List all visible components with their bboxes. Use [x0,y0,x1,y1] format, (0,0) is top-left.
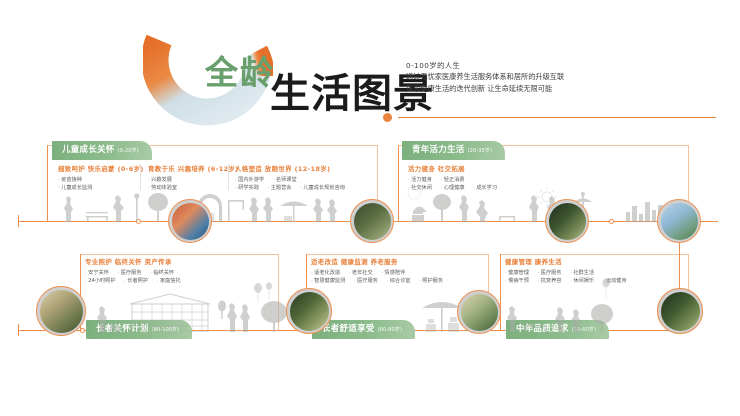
section-frame-top-4 [306,254,488,255]
timeline-start-tick [18,215,19,227]
teen-study-photo[interactable] [350,199,394,243]
detail-item: 儿童成长规划咨询 [300,185,345,191]
badge-label: 长者舒适享受 [322,323,375,333]
detail-row: 兴趣发展 [148,176,239,184]
badge-age: (60-80岁) [378,327,402,333]
detail-item: 24小时照护 [85,278,116,284]
detail-item: 老年社交 [349,270,373,276]
photo-image [549,203,586,240]
page-subtitle: 0-100岁的人生 通过无忧家医康养生活服务体系和居所的升级互联 探索健康生活的… [406,60,564,94]
detail-item: 成长学习 [473,185,497,191]
detail-item: 临终关怀 [150,270,174,276]
detail-item: 研学实践 [235,185,259,191]
youth-sport-photo[interactable] [545,199,589,243]
detail-item: 家庭信托 [157,278,181,284]
detail-row: 活力健身 轻正消费 [408,176,504,184]
infographic-canvas: 全龄 生活图景 0-100岁的人生 通过无忧家医康养生活服务体系和居所的升级互联… [0,0,740,416]
detail-row: 智慧健康监测 医疗服务 综合诊室 照护服务 [311,277,450,285]
elder-walk-photo[interactable] [657,288,703,334]
photo-image [354,203,391,240]
silhouette-playground-scene [196,194,346,222]
header-rule-dot [383,113,392,122]
rail-node-dot [609,219,614,224]
senior-garden-photo[interactable] [36,286,86,336]
detail-item: 主题营会 [268,185,292,191]
detail-row: 健康管理 医疗服务 社群生活 [505,269,634,277]
detail-item: 医疗服务 [538,270,562,276]
elder-care-photo[interactable] [286,288,332,334]
detail-item: 长者照护 [124,278,148,284]
detail-block-child-2: 人格塑造 放眼世界 (12-18岁) 国内外游学 名师课堂 研学实践 主题营会 … [235,164,352,192]
detail-title: 健康管理 康养生活 [505,257,634,266]
badge-age: (20-35岁) [468,148,492,154]
detail-separator [228,164,229,190]
detail-item: 照护服务 [419,278,443,284]
photo-image [661,292,700,331]
silhouette-sun-icon [405,184,423,202]
page-title-green: 全龄 [205,46,275,94]
subtitle-line-1: 0-100岁的人生 [406,60,564,71]
subtitle-line-3: 探索健康生活的迭代创新 让生命延续无限可能 [406,83,564,94]
silhouette-park-scene [58,190,178,222]
detail-row: 国内外游学 名师课堂 [235,176,352,184]
detail-title: 人格塑造 放眼世界 (12-18岁) [235,164,352,173]
detail-item: 综合诊室 [387,278,411,284]
detail-separator [140,164,141,190]
detail-item: 国内外游学 [235,177,264,183]
badge-stage-child: 儿童成长关怀(0-20岁) [52,141,152,160]
detail-item: 抗衰养容 [538,278,562,284]
detail-item: 活力健身 [408,177,432,183]
badge-stage-youth: 青年活力生活(20-35岁) [402,141,505,160]
detail-block-elder-care: 专业照护 临终关怀 资产传承 安宁关怀 医疗服务 临终关怀 24小时照护 长者照… [85,257,188,285]
section-frame-left-2 [398,145,399,221]
detail-item: 轻正消费 [441,177,465,183]
section-frame-top-3 [80,254,278,255]
detail-title: 专业照护 临终关怀 资产传承 [85,257,188,266]
silhouette-balloon [252,282,276,304]
badge-label: 青年活力生活 [412,144,465,154]
detail-item: 情感陪伴 [381,270,405,276]
detail-row: 安宁关怀 医疗服务 临终关怀 [85,269,188,277]
section-frame-left-1 [47,145,48,221]
detail-row: 24小时照护 长者照护 家庭信托 [85,277,188,285]
detail-item: 安宁关怀 [85,270,109,276]
section-frame-top-5 [500,254,688,255]
detail-item: 智慧健康监测 [311,278,345,284]
detail-item: 兴趣发展 [148,177,172,183]
timeline-end-tick [18,324,19,336]
detail-item: 疫苗接种 [58,177,82,183]
detail-row: 疫苗接种 [58,176,144,184]
detail-block-senior: 适老改造 健康监测 养老服务 适老化改造 老年社交 情感陪伴 智慧健康监测 医疗… [311,257,450,285]
photo-image [661,203,698,240]
detail-block-child-1: 育教于乐 兴趣培养 (6-12岁) 兴趣发展 劳动体验室 [148,164,239,192]
silhouette-balloon [600,278,622,300]
detail-block-child-0: 细致呵护 快乐启蒙 (0-6岁) 疫苗接种 儿童成长监测 [58,164,144,192]
detail-item: 医疗服务 [354,278,378,284]
detail-item: 适老化改造 [311,270,340,276]
detail-item: 休闲娱乐 [570,278,594,284]
detail-item: 健康管理 [505,270,529,276]
photo-image [40,290,83,333]
detail-title: 细致呵护 快乐启蒙 (0-6岁) [58,164,144,173]
child-play-photo[interactable] [168,199,212,243]
header-rule [398,117,716,118]
detail-item: 慢病干预 [505,278,529,284]
photo-image [172,203,209,240]
midlife-couple-photo[interactable] [657,199,701,243]
detail-title: 适老改造 健康监测 养老服务 [311,257,450,266]
subtitle-line-2: 通过无忧家医康养生活服务体系和居所的升级互联 [406,71,564,82]
badge-age: (0-20岁) [118,148,139,154]
detail-row: 适老化改造 老年社交 情感陪伴 [311,269,450,277]
silhouette-leisure-scene [418,292,618,332]
detail-item: 医疗服务 [118,270,142,276]
photo-image [290,292,329,331]
detail-item: 社群生活 [570,270,594,276]
detail-title: 活力健身 社交拓展 [408,164,504,173]
detail-title: 育教于乐 兴趣培养 (6-12岁) [148,164,239,173]
detail-item: 心理健康 [441,185,465,191]
photo-image [461,294,498,331]
detail-row: 研学实践 主题营会 儿童成长规划咨询 [235,184,352,192]
badge-label: 儿童成长关怀 [62,144,115,154]
senior-couple-photo[interactable] [457,290,501,334]
detail-item: 名师课堂 [273,177,297,183]
